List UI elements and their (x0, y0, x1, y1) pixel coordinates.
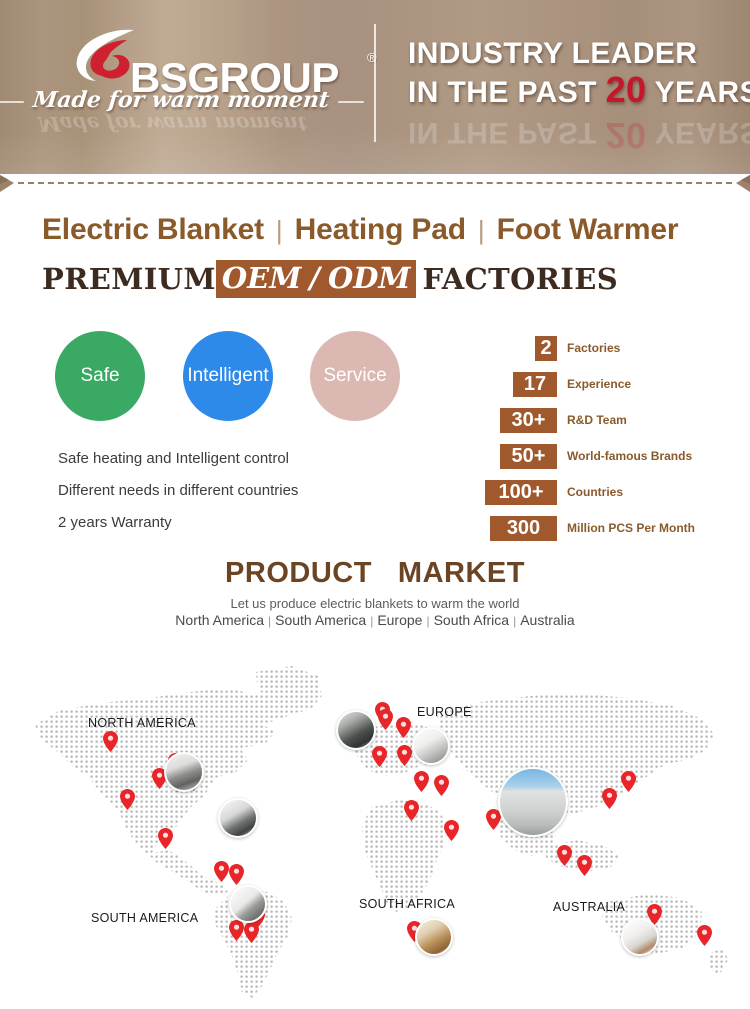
map-pin-icon[interactable] (103, 731, 118, 752)
stat-label: World-famous Brands (567, 449, 692, 463)
hero-reflection-line: IN THE PAST 20 YEARS (408, 114, 738, 153)
map-pin-icon[interactable] (621, 771, 636, 792)
stat-badge-value: 30+ (500, 408, 557, 433)
market-region-0: North America (175, 612, 264, 628)
premium-factories-row: PREMIUM OEM/ODM FACTORIES (42, 262, 618, 296)
hero-post: YEARS (646, 76, 750, 109)
map-region-label: EUROPE (417, 705, 472, 719)
tagline-reflection: Made for warm moment (37, 112, 309, 136)
ribbon-tip-right-icon (728, 174, 750, 196)
market-region-1: South America (275, 612, 366, 628)
region-sep-3: | (513, 614, 516, 628)
feature-circle-intelligent[interactable]: Intelligent (183, 331, 273, 421)
ribbon-tip-left-icon (0, 174, 22, 196)
stat-label: R&D Team (567, 413, 627, 427)
product-title-row: Electric Blanket | Heating Pad | Foot Wa… (42, 211, 732, 249)
stat-row: 100+Countries (430, 474, 730, 510)
map-pin-icon[interactable] (396, 717, 411, 738)
map-pin-icon[interactable] (214, 861, 229, 882)
product-title-2: Foot Warmer (497, 213, 679, 247)
hero-pre: IN THE PAST (408, 76, 606, 109)
feature-circle-safe-label: Safe (80, 365, 119, 387)
map-photo-image (166, 754, 202, 790)
map-photo-image (231, 887, 265, 921)
map-photo-image (500, 769, 566, 835)
map-region-label: SOUTH AMERICA (91, 911, 198, 925)
stat-label: Factories (567, 341, 620, 355)
stat-badge-value: 300 (490, 516, 557, 541)
map-region-label: NORTH AMERICA (88, 716, 196, 730)
hero-line-1: INDUSTRY LEADER (408, 36, 738, 72)
map-pin-icon[interactable] (404, 800, 419, 821)
map-pin-icon[interactable] (378, 709, 393, 730)
region-sep-1: | (370, 614, 373, 628)
map-pin-icon[interactable] (697, 925, 712, 946)
stat-badge-value: 2 (535, 336, 557, 361)
map-photo-image (623, 920, 657, 954)
product-title-separator-0: | (276, 215, 283, 246)
premium-label: PREMIUM (42, 262, 216, 296)
stat-label: Countries (567, 485, 623, 499)
region-sep-2: | (426, 614, 429, 628)
market-region-3: South Africa (434, 612, 510, 628)
map-photo-blanket-gray (164, 752, 204, 792)
feature-circle-safe[interactable]: Safe (55, 331, 145, 421)
market-heading: PRODUCTMARKET (0, 557, 750, 590)
map-pin-icon[interactable] (444, 820, 459, 841)
map-pin-icon[interactable] (244, 922, 259, 943)
stat-row: 2Factories (430, 330, 730, 366)
map-pin-icon[interactable] (120, 789, 135, 810)
stat-row: 30+R&D Team (430, 402, 730, 438)
map-photo-foot-warmer (621, 918, 659, 956)
market-heading-right: MARKET (398, 557, 525, 589)
map-photo-blanket-folded (229, 885, 267, 923)
stat-badge-slot: 100+ (430, 480, 557, 505)
stat-row: 300Million PCS Per Month (430, 510, 730, 546)
hero-headline: INDUSTRY LEADER IN THE PAST 20 YEARS (408, 36, 738, 111)
stat-badge-value: 100+ (485, 480, 557, 505)
market-region-4: Australia (520, 612, 574, 628)
product-title-0: Electric Blanket (42, 213, 264, 247)
dashed-line (18, 182, 732, 184)
stat-badge-value: 17 (513, 372, 557, 397)
stat-row: 17Experience (430, 366, 730, 402)
odm-badge: ODM (322, 260, 417, 298)
hero-line-2: IN THE PAST 20 YEARS (408, 72, 738, 111)
market-region-2: Europe (377, 612, 422, 628)
stat-badge-slot: 2 (430, 336, 557, 361)
stat-row: 50+World-famous Brands (430, 438, 730, 474)
map-photo-factory-building (498, 767, 568, 837)
market-subtitle: Let us produce electric blankets to warm… (0, 596, 750, 611)
header-banner: BSGROUP ® Made for warm moment Made for … (0, 0, 750, 174)
map-pin-icon[interactable] (372, 746, 387, 767)
map-photo-image (414, 729, 448, 763)
tagline-rule-right (338, 101, 364, 103)
oem-odm-slash: / (307, 260, 322, 298)
region-sep-0: | (268, 614, 271, 628)
map-photo-image (220, 800, 256, 836)
map-pin-icon[interactable] (434, 775, 449, 796)
hero-years-number: 20 (606, 69, 647, 110)
map-region-label: SOUTH AFRICA (359, 897, 455, 911)
stat-badge-slot: 30+ (430, 408, 557, 433)
hero-reflection: IN THE PAST 20 YEARS (408, 114, 738, 153)
header-divider (374, 24, 376, 142)
map-photo-image (338, 712, 374, 748)
stat-label: Experience (567, 377, 631, 391)
tagline-rule-left (0, 101, 24, 103)
hero-reflection-pre: IN THE PAST (408, 116, 606, 149)
map-photo-heating-pad-brown (415, 918, 453, 956)
oem-badge: OEM (216, 260, 307, 298)
feature-bullet-0: Safe heating and Intelligent control (58, 443, 458, 475)
stat-badge-value: 50+ (500, 444, 557, 469)
section-divider (0, 174, 750, 196)
product-title-1: Heating Pad (295, 213, 466, 247)
map-pin-icon[interactable] (414, 771, 429, 792)
map-pin-icon[interactable] (577, 855, 592, 876)
feature-bullet-2: 2 years Warranty (58, 507, 458, 539)
map-pin-icon[interactable] (158, 828, 173, 849)
map-region-label: AUSTRALIA (553, 900, 625, 914)
feature-bullet-list: Safe heating and Intelligent control Dif… (58, 443, 458, 539)
feature-circle-service-label: Service (323, 365, 386, 387)
factories-label: FACTORIES (422, 262, 618, 296)
feature-circles: Safe Intelligent Service (55, 331, 415, 423)
stat-badge-slot: 300 (430, 516, 557, 541)
map-pin-icon[interactable] (557, 845, 572, 866)
stat-badge-slot: 50+ (430, 444, 557, 469)
stats-list: 2Factories17Experience30+R&D Team50+Worl… (430, 330, 730, 546)
map-photo-blanket-dark (336, 710, 376, 750)
map-photo-blanket-silver (218, 798, 258, 838)
tagline-text: Made for warm moment (32, 87, 331, 113)
map-photo-pad-white (412, 727, 450, 765)
stat-badge-slot: 17 (430, 372, 557, 397)
product-title-separator-1: | (478, 215, 485, 246)
map-photo-image (417, 920, 451, 954)
map-pin-icon[interactable] (229, 864, 244, 885)
market-heading-left: PRODUCT (225, 557, 372, 589)
feature-circle-service[interactable]: Service (310, 331, 400, 421)
feature-bullet-1: Different needs in different countries (58, 475, 458, 507)
feature-circle-intelligent-label: Intelligent (187, 365, 268, 387)
hero-reflection-post: YEARS (646, 116, 750, 149)
stat-label: Million PCS Per Month (567, 521, 695, 535)
world-map: NORTH AMERICASOUTH AMERICAEUROPESOUTH AF… (0, 640, 750, 1009)
market-region-list: North America|South America|Europe|South… (0, 612, 750, 628)
map-pin-icon[interactable] (229, 920, 244, 941)
map-pin-icon[interactable] (602, 788, 617, 809)
hero-reflection-number: 20 (606, 115, 647, 156)
map-pin-icon[interactable] (397, 745, 412, 766)
